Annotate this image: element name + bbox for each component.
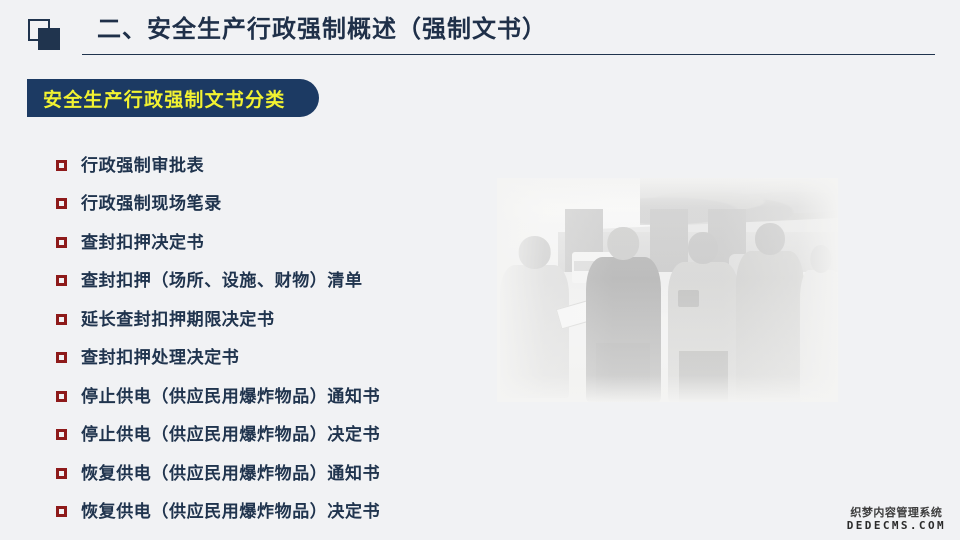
- hollow-square-bullet-icon: [56, 391, 67, 402]
- list-item-label: 停止供电（供应民用爆炸物品）决定书: [81, 426, 380, 443]
- photo-person-legs: [679, 351, 728, 402]
- list-item[interactable]: 查封扣押决定书: [56, 223, 476, 262]
- overlapping-squares-icon: [28, 19, 62, 49]
- photo-person-body: [736, 251, 804, 402]
- photo-person-head: [518, 236, 551, 268]
- list-item[interactable]: 行政强制现场笔录: [56, 185, 476, 224]
- list-item[interactable]: 停止供电（供应民用爆炸物品）决定书: [56, 416, 476, 455]
- list-item[interactable]: 停止供电（供应民用爆炸物品）通知书: [56, 377, 476, 416]
- photo-person-dark-shirt: [586, 227, 661, 402]
- list-item-label: 停止供电（供应民用爆炸物品）通知书: [81, 388, 380, 405]
- list-item[interactable]: 延长查封扣押期限决定书: [56, 300, 476, 339]
- watermark: 织梦内容管理系统 DEDECMS.COM: [847, 507, 946, 532]
- inspection-site-photo: [497, 178, 838, 402]
- hollow-square-bullet-icon: [56, 506, 67, 517]
- square-filled-shape: [38, 28, 60, 50]
- photo-person-body: [500, 265, 568, 397]
- document-type-list: 行政强制审批表 行政强制现场笔录 查封扣押决定书 查封扣押（场所、设施、财物）清…: [56, 146, 476, 531]
- list-item[interactable]: 行政强制审批表: [56, 146, 476, 185]
- photo-person-head: [810, 245, 831, 273]
- list-item-label: 行政强制审批表: [81, 157, 204, 174]
- section-banner-label: 安全生产行政强制文书分类: [43, 85, 285, 112]
- hollow-square-bullet-icon: [56, 160, 67, 171]
- hollow-square-bullet-icon: [56, 468, 67, 479]
- section-banner: 安全生产行政强制文书分类: [27, 79, 319, 117]
- hollow-square-bullet-icon: [56, 198, 67, 209]
- list-item[interactable]: 查封扣押（场所、设施、财物）清单: [56, 262, 476, 301]
- photo-person-body: [800, 270, 838, 402]
- list-item[interactable]: 恢复供电（供应民用爆炸物品）决定书: [56, 493, 476, 532]
- photo-person-officer-phone: [668, 232, 740, 402]
- photo-person-officer-right: [736, 223, 804, 402]
- photo-person-legs: [596, 343, 650, 402]
- slide: 二、安全生产行政强制概述（强制文书） 安全生产行政强制文书分类 行政强制审批表 …: [0, 0, 960, 540]
- hollow-square-bullet-icon: [56, 314, 67, 325]
- list-item-label: 查封扣押决定书: [81, 234, 204, 251]
- photo-person-officer-writing: [500, 236, 568, 397]
- watermark-english: DEDECMS.COM: [847, 520, 946, 532]
- photo-content: [497, 178, 838, 402]
- photo-person-head: [688, 232, 718, 264]
- watermark-chinese: 织梦内容管理系统: [847, 507, 946, 519]
- list-item-label: 延长查封扣押期限决定书: [81, 311, 275, 328]
- hollow-square-bullet-icon: [56, 352, 67, 363]
- photo-person-head: [755, 223, 785, 255]
- list-item[interactable]: 查封扣押处理决定书: [56, 339, 476, 378]
- list-item-label: 查封扣押（场所、设施、财物）清单: [81, 272, 363, 289]
- list-item-label: 恢复供电（供应民用爆炸物品）通知书: [81, 465, 380, 482]
- photo-phone: [678, 290, 699, 307]
- hollow-square-bullet-icon: [56, 275, 67, 286]
- slide-header: 二、安全生产行政强制概述（强制文书）: [0, 0, 960, 60]
- header-divider: [82, 54, 935, 55]
- list-item-label: 行政强制现场笔录: [81, 195, 222, 212]
- list-item-label: 查封扣押处理决定书: [81, 349, 239, 366]
- list-item[interactable]: 恢复供电（供应民用爆炸物品）通知书: [56, 454, 476, 493]
- photo-person-partial: [800, 245, 838, 402]
- hollow-square-bullet-icon: [56, 429, 67, 440]
- list-item-label: 恢复供电（供应民用爆炸物品）决定书: [81, 503, 380, 520]
- hollow-square-bullet-icon: [56, 237, 67, 248]
- page-title: 二、安全生产行政强制概述（强制文书）: [97, 13, 547, 47]
- photo-person-head: [607, 227, 639, 260]
